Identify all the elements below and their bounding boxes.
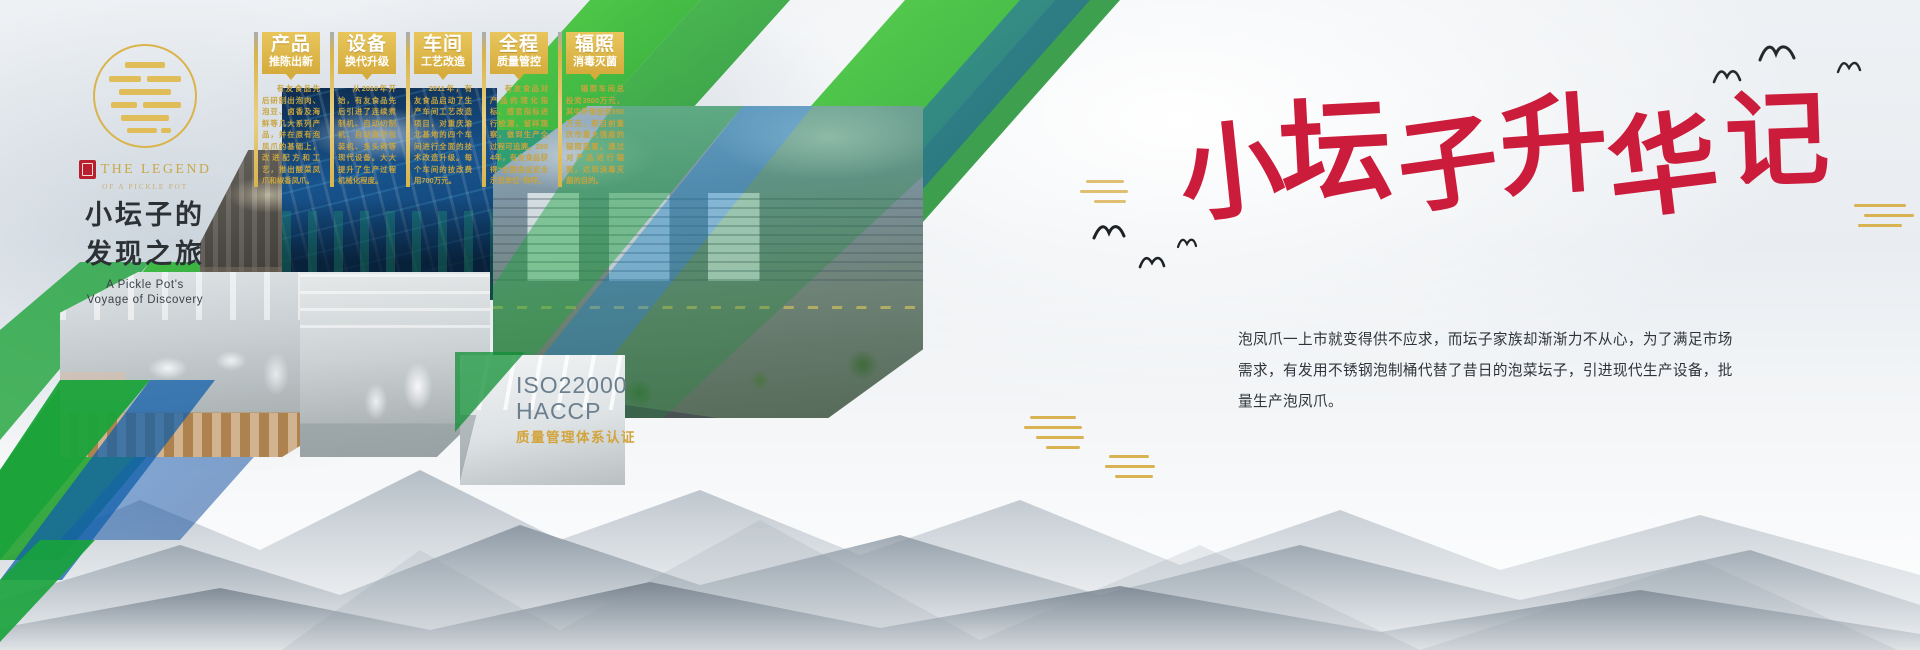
card-header: 设备 换代升级 — [338, 32, 396, 74]
headline-char-2: 坛 — [1277, 95, 1395, 213]
card-title: 产品 — [265, 35, 317, 55]
card-accent-bar — [558, 32, 562, 187]
card-body: 从2010年开始，有友食品先后引进了连续煮制机、自动切制机、自动真空包装机、多头… — [338, 83, 396, 187]
info-card-3: 车间 工艺改造 2011年，有友食品启动了生产车间工艺改造项目，对重庆渝北基地的… — [414, 32, 472, 187]
card-header: 辐照 消毒灭菌 — [566, 32, 624, 74]
headline-calligraphy: 小 坛 子 升 华 记 — [1180, 78, 1820, 218]
cert-haccp-line: HACCP — [516, 398, 636, 424]
headline-char-5: 华 — [1602, 106, 1725, 229]
info-card-1: 产品 推陈出新 有友食品先后研制出泡肉、泡豆、卤香及海鲜等几大系列产品，并在原有… — [262, 32, 320, 187]
info-card-2: 设备 换代升级 从2010年开始，有友食品先后引进了连续煮制机、自动切制机、自动… — [338, 32, 396, 187]
legend-wordmark: THE LEGEND — [40, 160, 250, 179]
brand-story-banner: THE LEGEND OF A PICKLE POT 小坛子的 发现之旅 A P… — [0, 0, 1920, 650]
card-title: 车间 — [417, 35, 469, 55]
cloud-motif-icon — [1854, 198, 1920, 238]
headline-char-6: 记 — [1723, 88, 1831, 196]
info-card-4: 全程 质量管控 有友食品对产品的理化指标、感官指标进行检测，留样观察，做到生产全… — [490, 32, 548, 187]
cert-iso-line: ISO22000 — [516, 372, 636, 398]
card-body: 2011年，有友食品启动了生产车间工艺改造项目，对重庆渝北基地的四个车间进行全面… — [414, 83, 472, 187]
legend-sub-text: OF A PICKLE POT — [40, 182, 250, 191]
card-subtitle: 推陈出新 — [265, 56, 317, 69]
headline-char-1: 小 — [1175, 117, 1289, 231]
certification-block: ISO22000 HACCP 质量管理体系认证 — [516, 372, 636, 446]
brand-lockup: THE LEGEND OF A PICKLE POT 小坛子的 发现之旅 A P… — [40, 44, 250, 308]
card-subtitle: 换代升级 — [341, 56, 393, 69]
card-header: 车间 工艺改造 — [414, 32, 472, 74]
card-subtitle: 工艺改造 — [417, 56, 469, 69]
cloud-motif-icon — [1024, 412, 1096, 454]
card-title: 辐照 — [569, 35, 621, 55]
card-accent-bar — [406, 32, 410, 187]
info-card-5: 辐照 消毒灭菌 辐照车间总投资3500万元，其中环保投资550万元，是目前重庆市… — [566, 32, 624, 187]
bird-icon — [1758, 40, 1796, 66]
card-accent-bar — [254, 32, 258, 187]
bird-icon — [1092, 221, 1126, 243]
cloud-motif-icon — [1080, 178, 1138, 208]
brand-en-sub-line2: Voyage of Discovery — [40, 293, 250, 308]
story-paragraph: 泡凤爪一上市就变得供不应求，而坛子家族却渐渐力不从心，为了满足市场 需求，有发用… — [1238, 325, 1798, 418]
red-seal-icon — [79, 160, 96, 179]
card-body: 有友食品先后研制出泡肉、泡豆、卤香及海鲜等几大系列产品，并在原有泡凤爪的基础上，… — [262, 83, 320, 187]
card-accent-bar — [482, 32, 486, 187]
brand-cn-title-line2: 发现之旅 — [40, 239, 250, 269]
card-header: 产品 推陈出新 — [262, 32, 320, 74]
card-title: 全程 — [493, 35, 545, 55]
cloud-motif-icon — [1105, 452, 1165, 486]
card-body: 辐照车间总投资3500万元，其中环保投资550万元，是目前重庆市最大强度的辐照装… — [566, 83, 624, 187]
headline-char-4: 升 — [1496, 90, 1611, 205]
pickle-pot-seal-icon — [93, 44, 197, 148]
bird-icon — [1836, 58, 1862, 76]
card-body: 有友食品对产品的理化指标、感官指标进行检测，留样观察，做到生产全过程可追溯。20… — [490, 83, 548, 187]
card-header: 全程 质量管控 — [490, 32, 548, 74]
bird-icon — [1176, 236, 1198, 250]
bird-icon — [1138, 253, 1166, 271]
legend-en-text: THE LEGEND — [101, 162, 212, 178]
card-title: 设备 — [341, 35, 393, 55]
card-accent-bar — [330, 32, 334, 187]
paragraph-line-1: 泡凤爪一上市就变得供不应求，而坛子家族却渐渐力不从心，为了满足市场 — [1238, 325, 1798, 356]
cert-cn-line: 质量管理体系认证 — [516, 426, 636, 446]
card-subtitle: 质量管控 — [493, 56, 545, 69]
brand-cn-title-line1: 小坛子的 — [40, 200, 250, 230]
brand-en-sub-line1: A Pickle Pot's — [40, 278, 250, 293]
card-subtitle: 消毒灭菌 — [569, 56, 621, 69]
paragraph-line-2: 需求，有发用不锈钢泡制桶代替了昔日的泡菜坛子，引进现代生产设备，批 — [1238, 356, 1798, 387]
headline-char-3: 子 — [1392, 110, 1505, 223]
paragraph-line-3: 量生产泡凤爪。 — [1238, 387, 1798, 418]
